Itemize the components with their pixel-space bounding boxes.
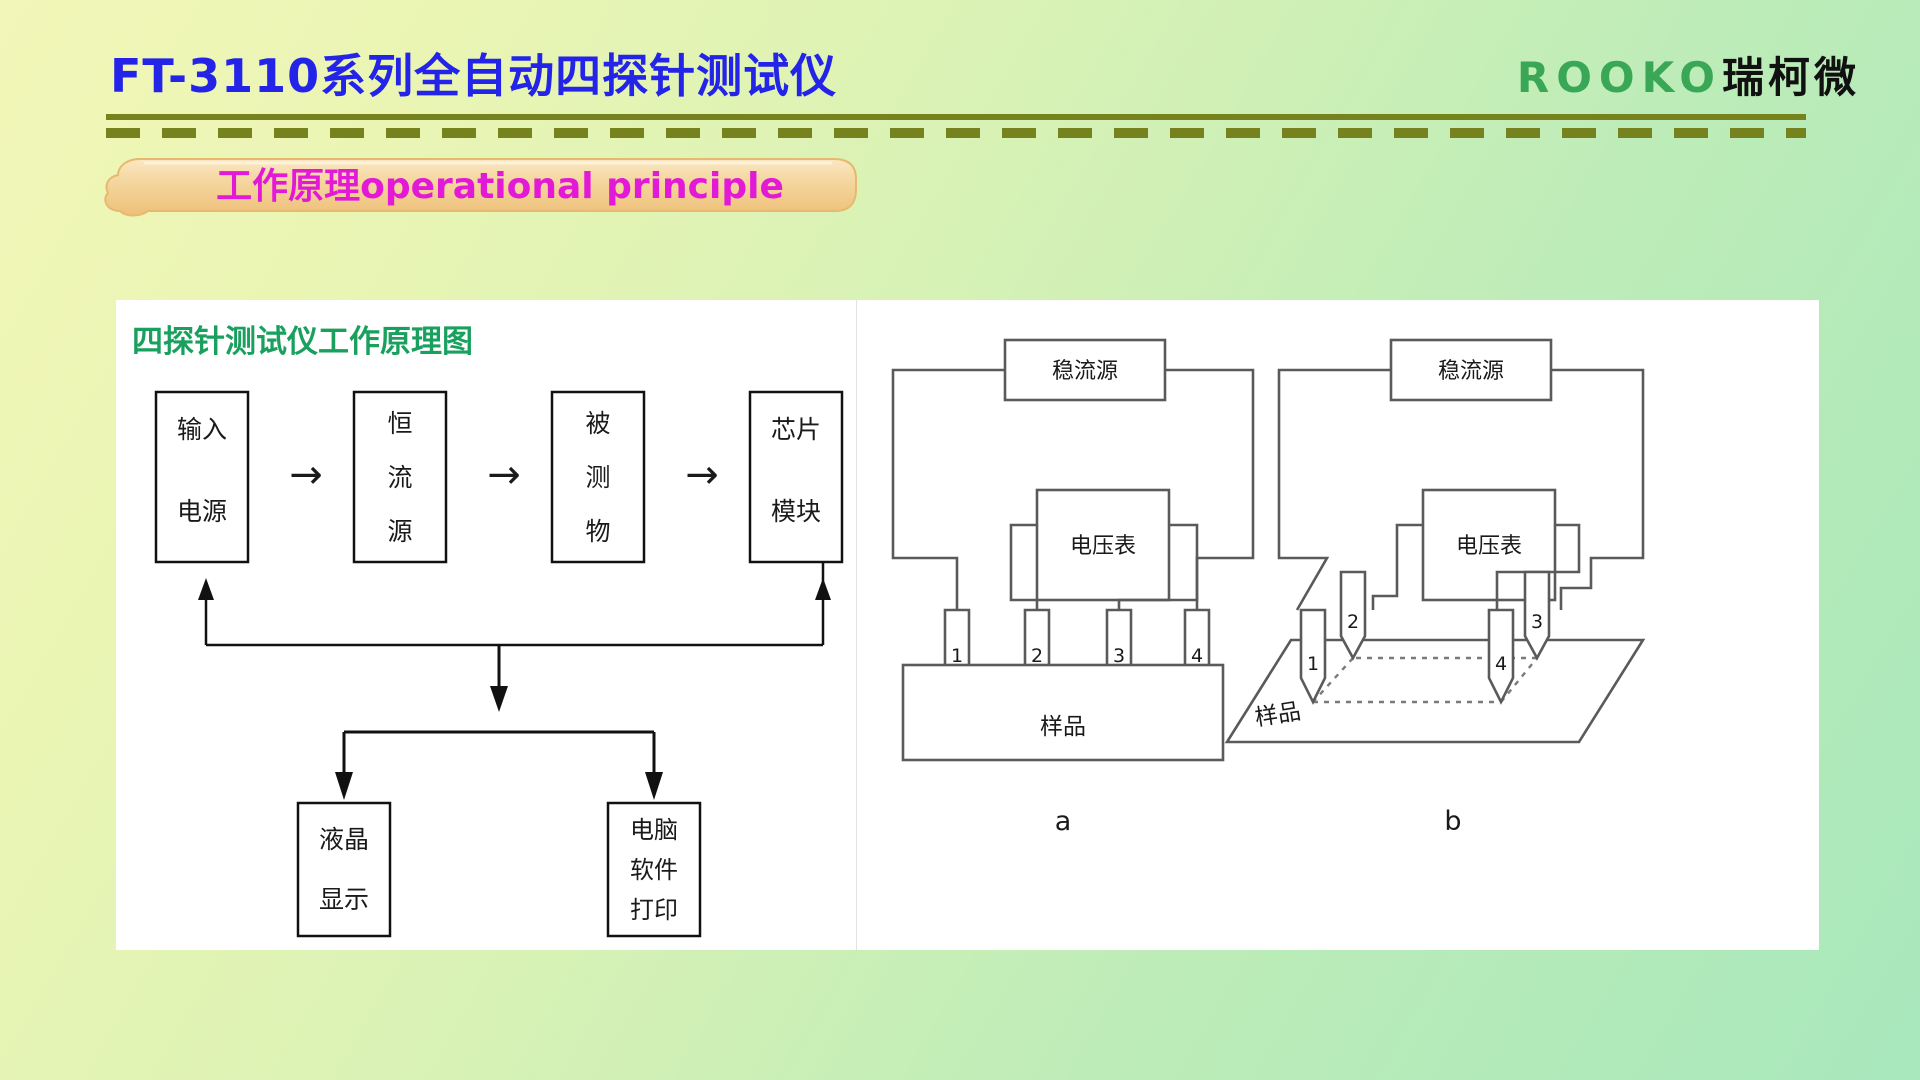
schematic-a-current-wire-right	[1165, 370, 1253, 610]
section-banner: 工作原理operational principle	[100, 145, 860, 220]
flow-split-left-arrowhead	[335, 772, 353, 800]
schematic-b-probe-4-number: 4	[1495, 653, 1507, 675]
flow-box-lcd-display-line-0: 液晶	[319, 825, 369, 854]
schematic-a-voltmeter-label: 电压表	[1070, 534, 1136, 559]
schematic-b-current-wire-left	[1279, 370, 1391, 610]
schematic-b-probe-2-number: 2	[1347, 611, 1359, 633]
schematic-b-probe-3: 3	[1525, 572, 1549, 658]
flow-box-input-power-line-1: 电源	[177, 497, 227, 526]
brand-logo-en: ROOKO	[1517, 53, 1722, 102]
schematic-a-current-source-label: 稳流源	[1052, 359, 1118, 384]
flow-arrow-3: →	[685, 452, 719, 498]
flow-box-dut-line-0: 被	[585, 409, 610, 438]
flow-box-dut-line-1: 测	[585, 463, 610, 492]
content-panel: 四探针测试仪工作原理图 输入 电源 → 恒 流 源 → 被 测 物	[116, 300, 1819, 950]
brand-logo: ROOKO瑞柯微	[1517, 44, 1860, 105]
flow-box-lcd-display: 液晶 显示	[298, 803, 390, 936]
slide-root: FT-3110系列全自动四探针测试仪 ROOKO瑞柯微 工作原理operatio…	[0, 0, 1920, 1080]
flow-down-arrowhead	[490, 686, 508, 712]
schematic-b-probe-2: 2	[1341, 572, 1365, 658]
schematic-a-caption: a	[1055, 806, 1072, 837]
flow-box-dut-line-2: 物	[585, 517, 610, 546]
schematic-b: 稳流源 电压表 样品	[1227, 340, 1643, 837]
flowchart-title: 四探针测试仪工作原理图	[132, 316, 473, 361]
flow-box-constant-current: 恒 流 源	[354, 392, 446, 562]
flow-feedback-arrowhead-right	[815, 578, 831, 600]
schematic-b-voltage-wire-left	[1373, 525, 1423, 610]
schematic-b-current-source-label: 稳流源	[1438, 359, 1504, 384]
flow-box-chip-module: 芯片 模块	[750, 392, 842, 562]
flow-box-constant-current-line-0: 恒	[387, 409, 412, 438]
flow-box-pc-line-0: 电脑	[630, 816, 678, 844]
flow-box-pc-line-1: 软件	[630, 856, 678, 884]
flow-arrow-1: →	[289, 452, 323, 498]
schematic-a-sample-box	[903, 665, 1223, 760]
schematic-b-caption: b	[1444, 806, 1461, 837]
flow-box-input-power-line-0: 输入	[177, 415, 227, 444]
flow-box-constant-current-line-1: 流	[387, 463, 412, 492]
schematic-a-voltage-wire-left	[1011, 525, 1037, 610]
schematic-a-current-wire-left	[893, 370, 1005, 610]
flow-box-chip-module-line-1: 模块	[771, 497, 821, 526]
schematic-b-probe-1-number: 1	[1307, 653, 1319, 675]
flow-split-right-arrowhead	[645, 772, 663, 800]
page-title: FT-3110系列全自动四探针测试仪	[110, 40, 837, 106]
flow-box-device-under-test: 被 测 物	[552, 392, 644, 562]
section-banner-label: 工作原理operational principle	[100, 145, 860, 220]
flow-box-pc-software-print: 电脑 软件 打印	[608, 803, 700, 936]
schematic-a: 稳流源 电压表 1 2	[893, 340, 1253, 837]
flow-box-constant-current-line-2: 源	[387, 517, 412, 546]
header-rule-solid	[106, 114, 1806, 120]
header-rule-dashed	[106, 128, 1806, 138]
flow-arrow-2: →	[487, 452, 521, 498]
schematic-b-voltmeter-label: 电压表	[1456, 534, 1522, 559]
panel-divider	[856, 300, 857, 950]
schematic-a-sample-label: 样品	[1040, 714, 1086, 740]
schematic-b-sample-plane	[1227, 640, 1643, 742]
brand-logo-cn: 瑞柯微	[1722, 53, 1860, 102]
flow-box-pc-line-2: 打印	[630, 896, 678, 924]
four-point-probe-schematics: 稳流源 电压表 1 2	[861, 310, 1811, 945]
schematic-b-current-wire-right	[1551, 370, 1643, 610]
flow-box-chip-module-line-0: 芯片	[771, 415, 821, 444]
flow-feedback-bus	[206, 562, 823, 645]
flow-box-lcd-display-line-1: 显示	[319, 885, 369, 914]
schematic-b-probe-3-number: 3	[1531, 611, 1543, 633]
flow-box-input-power: 输入 电源	[156, 392, 248, 562]
flow-feedback-arrowhead-left	[198, 578, 214, 600]
flowchart-diagram: 输入 电源 → 恒 流 源 → 被 测 物 → 芯片 模块	[116, 360, 856, 950]
